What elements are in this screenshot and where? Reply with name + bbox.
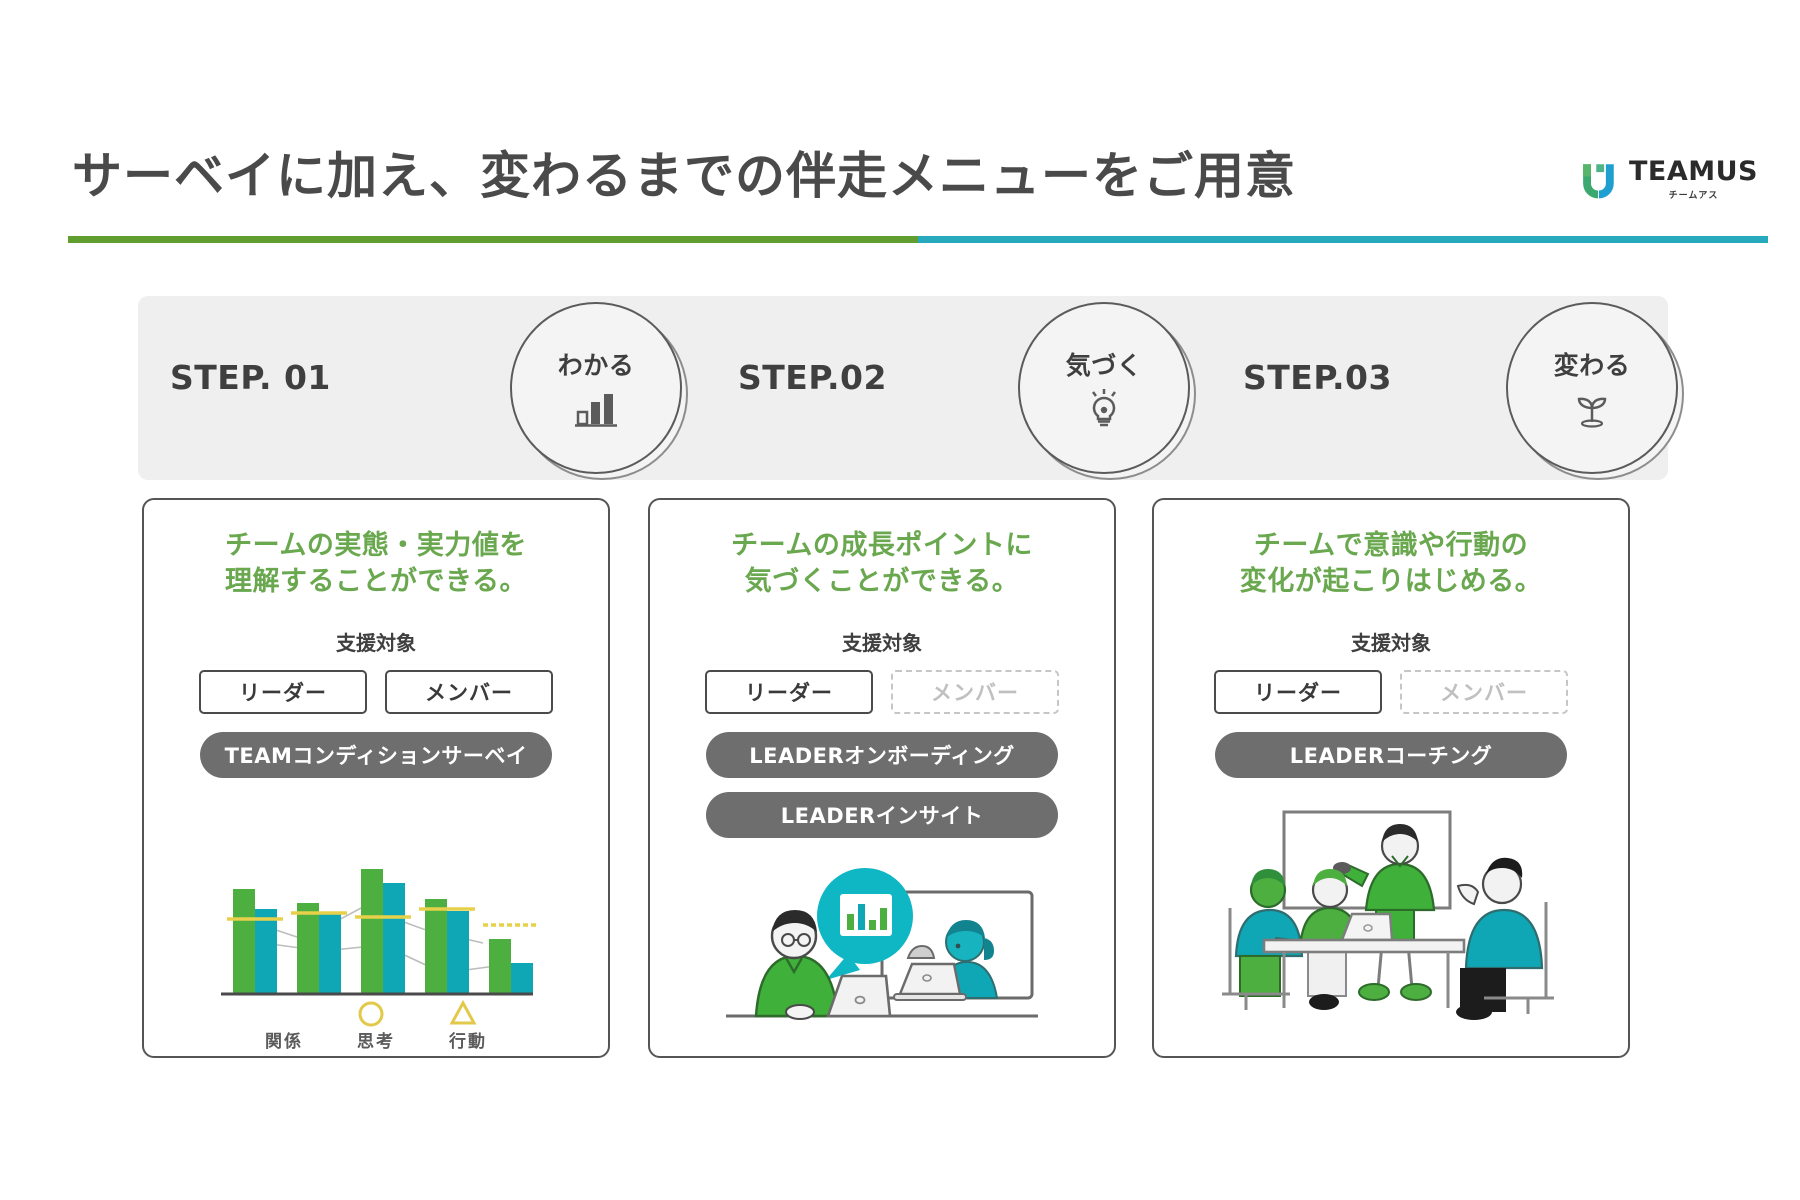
card-headline-3-line2: 変化が起こりはじめる。 (1154, 564, 1628, 600)
chart-category-label-koudou: 行動 (449, 1027, 487, 1052)
page-header: サーベイに加え、変わるまでの伴走メニューをご用意 TEAMUS チームアス (0, 0, 1800, 250)
page-title: サーベイに加え、変わるまでの伴走メニューをご用意 (72, 136, 1296, 208)
step-progress-bar: STEP. 01 わかる STEP.02 気づく (138, 296, 1668, 480)
service-pill-leader-onboarding[interactable]: LEADERオンボーディング (706, 732, 1058, 778)
logo-subtext: チームアス (1669, 188, 1719, 201)
step-card-3[interactable]: チームで意識や行動の 変化が起こりはじめる。 支援対象 リーダー メンバー LE… (1152, 498, 1630, 1058)
team-meeting-room-illustration (1154, 798, 1628, 1028)
divider-teal-segment (918, 236, 1768, 243)
tag-member-2: メンバー (891, 670, 1059, 714)
card-headline-3: チームで意識や行動の 変化が起こりはじめる。 (1154, 528, 1628, 601)
team-condition-survey-bar-chart-illustration (144, 847, 608, 1032)
step-label-1: STEP. 01 (170, 358, 331, 397)
service-pills-2: LEADERオンボーディング LEADERインサイト (650, 732, 1114, 838)
service-pill-leader-coaching[interactable]: LEADERコーチング (1215, 732, 1567, 778)
card-headline-1: チームの実態・実力値を 理解することができる。 (144, 528, 608, 601)
step-badge-3[interactable]: 変わる (1506, 302, 1678, 474)
teamus-u-mark-icon (1577, 159, 1619, 201)
divider-green-segment (68, 236, 918, 243)
card-headline-2: チームの成長ポイントに 気づくことができる。 (650, 528, 1114, 601)
service-pills-1: TEAMコンディションサーベイ (144, 732, 608, 778)
tag-member-3: メンバー (1400, 670, 1568, 714)
tag-leader-2[interactable]: リーダー (705, 670, 873, 714)
step-badge-text-1: わかる (558, 346, 635, 382)
support-label-3: 支援対象 (1154, 627, 1628, 656)
header-divider-rule (68, 236, 1768, 243)
support-label-2: 支援対象 (650, 627, 1114, 656)
service-pill-leader-insight[interactable]: LEADERインサイト (706, 792, 1058, 838)
chart-category-label-kankei: 関係 (265, 1027, 303, 1052)
step-card-1[interactable]: チームの実態・実力値を 理解することができる。 支援対象 リーダー メンバー T… (142, 498, 610, 1058)
lightbulb-icon (1080, 386, 1128, 430)
card-headline-2-line2: 気づくことができる。 (650, 564, 1114, 600)
service-pills-3: LEADERコーチング (1154, 732, 1628, 778)
card-headline-3-line1: チームで意識や行動の (1154, 528, 1628, 564)
step-label-3: STEP.03 (1243, 358, 1392, 397)
card-headline-1-line2: 理解することができる。 (144, 564, 608, 600)
step-label-2: STEP.02 (738, 358, 887, 397)
support-label-1: 支援対象 (144, 627, 608, 656)
step-badge-text-3: 変わる (1554, 346, 1631, 382)
support-tags-3: リーダー メンバー (1154, 670, 1628, 714)
step-badge-2[interactable]: 気づく (1018, 302, 1190, 474)
step-badge-1[interactable]: わかる (510, 302, 682, 474)
sprout-icon (1568, 386, 1616, 430)
tag-leader-3[interactable]: リーダー (1214, 670, 1382, 714)
step-card-2[interactable]: チームの成長ポイントに 気づくことができる。 支援対象 リーダー メンバー LE… (648, 498, 1116, 1058)
chart-category-label-shikou: 思考 (357, 1027, 395, 1052)
service-pill-team-condition-survey[interactable]: TEAMコンディションサーベイ (200, 732, 552, 778)
logo-wordmark: TEAMUS (1629, 158, 1758, 185)
online-meeting-illustration (650, 854, 1114, 1034)
bar-chart-icon (572, 386, 620, 430)
tag-member-1[interactable]: メンバー (385, 670, 553, 714)
tag-leader-1[interactable]: リーダー (199, 670, 367, 714)
teamus-logo: TEAMUS チームアス (1577, 158, 1758, 201)
support-tags-2: リーダー メンバー (650, 670, 1114, 714)
card-headline-2-line1: チームの成長ポイントに (650, 528, 1114, 564)
step-badge-text-2: 気づく (1066, 346, 1143, 382)
chart-category-labels-1: 関係 思考 行動 (144, 1027, 608, 1052)
support-tags-1: リーダー メンバー (144, 670, 608, 714)
card-headline-1-line1: チームの実態・実力値を (144, 528, 608, 564)
